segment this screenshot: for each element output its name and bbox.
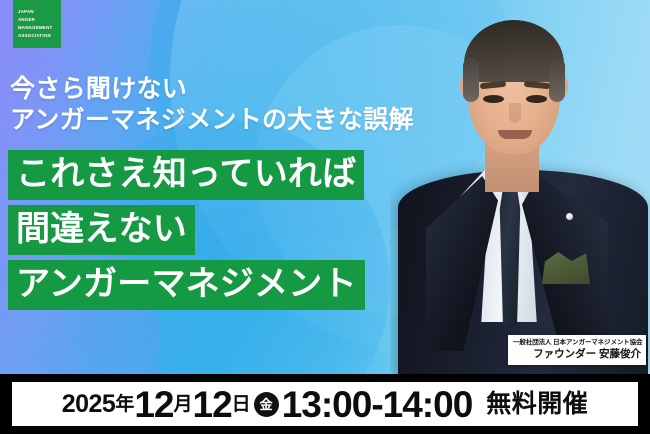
event-year-unit: 年 (115, 395, 134, 414)
headline-bar-3: アンガーマネジメント (8, 260, 365, 310)
event-day: 12 (193, 386, 232, 423)
mouth (498, 130, 532, 139)
logo-line-japan: JAPAN (18, 8, 61, 16)
webinar-banner: JAPAN ANGER MANAGEMENT ASSOCIATION 今さら聞け… (0, 0, 650, 434)
eye-left (483, 95, 504, 103)
subtitle-line-1: 今さら聞けない (10, 74, 414, 105)
logo-line-management: MANAGEMENT (18, 24, 61, 32)
headline-bar-2: 間違えない (8, 205, 195, 255)
speaker-portrait (390, 0, 650, 374)
headline-bar-1: これさえ知っていれば (8, 150, 364, 200)
subtitle-line-2: アンガーマネジメントの大きな誤解 (10, 105, 414, 136)
event-date-bar: 2025 年 12 月 12 日 金 13:00-14:00 無料開催 (0, 374, 650, 434)
lapel-pin (566, 213, 573, 220)
eye-right (526, 95, 547, 103)
subtitle-block: 今さら聞けない アンガーマネジメントの大きな誤解 (10, 74, 414, 136)
event-month-unit: 月 (174, 395, 193, 414)
speaker-name: ファウンダー 安藤俊介 (513, 347, 641, 361)
hair-side-right (549, 58, 565, 102)
speaker-organization: 一般社団法人 日本アンガーマネジメント協会 (513, 338, 641, 347)
speaker-credit-box: 一般社団法人 日本アンガーマネジメント協会 ファウンダー 安藤俊介 (508, 335, 646, 365)
logo-line-anger: ANGER (18, 16, 61, 24)
event-year: 2025 (62, 392, 116, 417)
event-date-panel: 2025 年 12 月 12 日 金 13:00-14:00 無料開催 (12, 382, 638, 426)
headline-block: これさえ知っていれば 間違えない アンガーマネジメント (8, 150, 365, 315)
event-day-unit: 日 (232, 395, 251, 414)
event-price-note: 無料開催 (486, 392, 588, 417)
association-logo: JAPAN ANGER MANAGEMENT ASSOCIATION (13, 0, 61, 48)
event-day-of-week-badge: 金 (254, 392, 279, 417)
nose (509, 103, 521, 123)
event-month: 12 (134, 386, 173, 423)
event-time: 13:00-14:00 (282, 386, 473, 423)
logo-line-association: ASSOCIATION (18, 32, 61, 40)
hair-side-left (463, 58, 479, 102)
